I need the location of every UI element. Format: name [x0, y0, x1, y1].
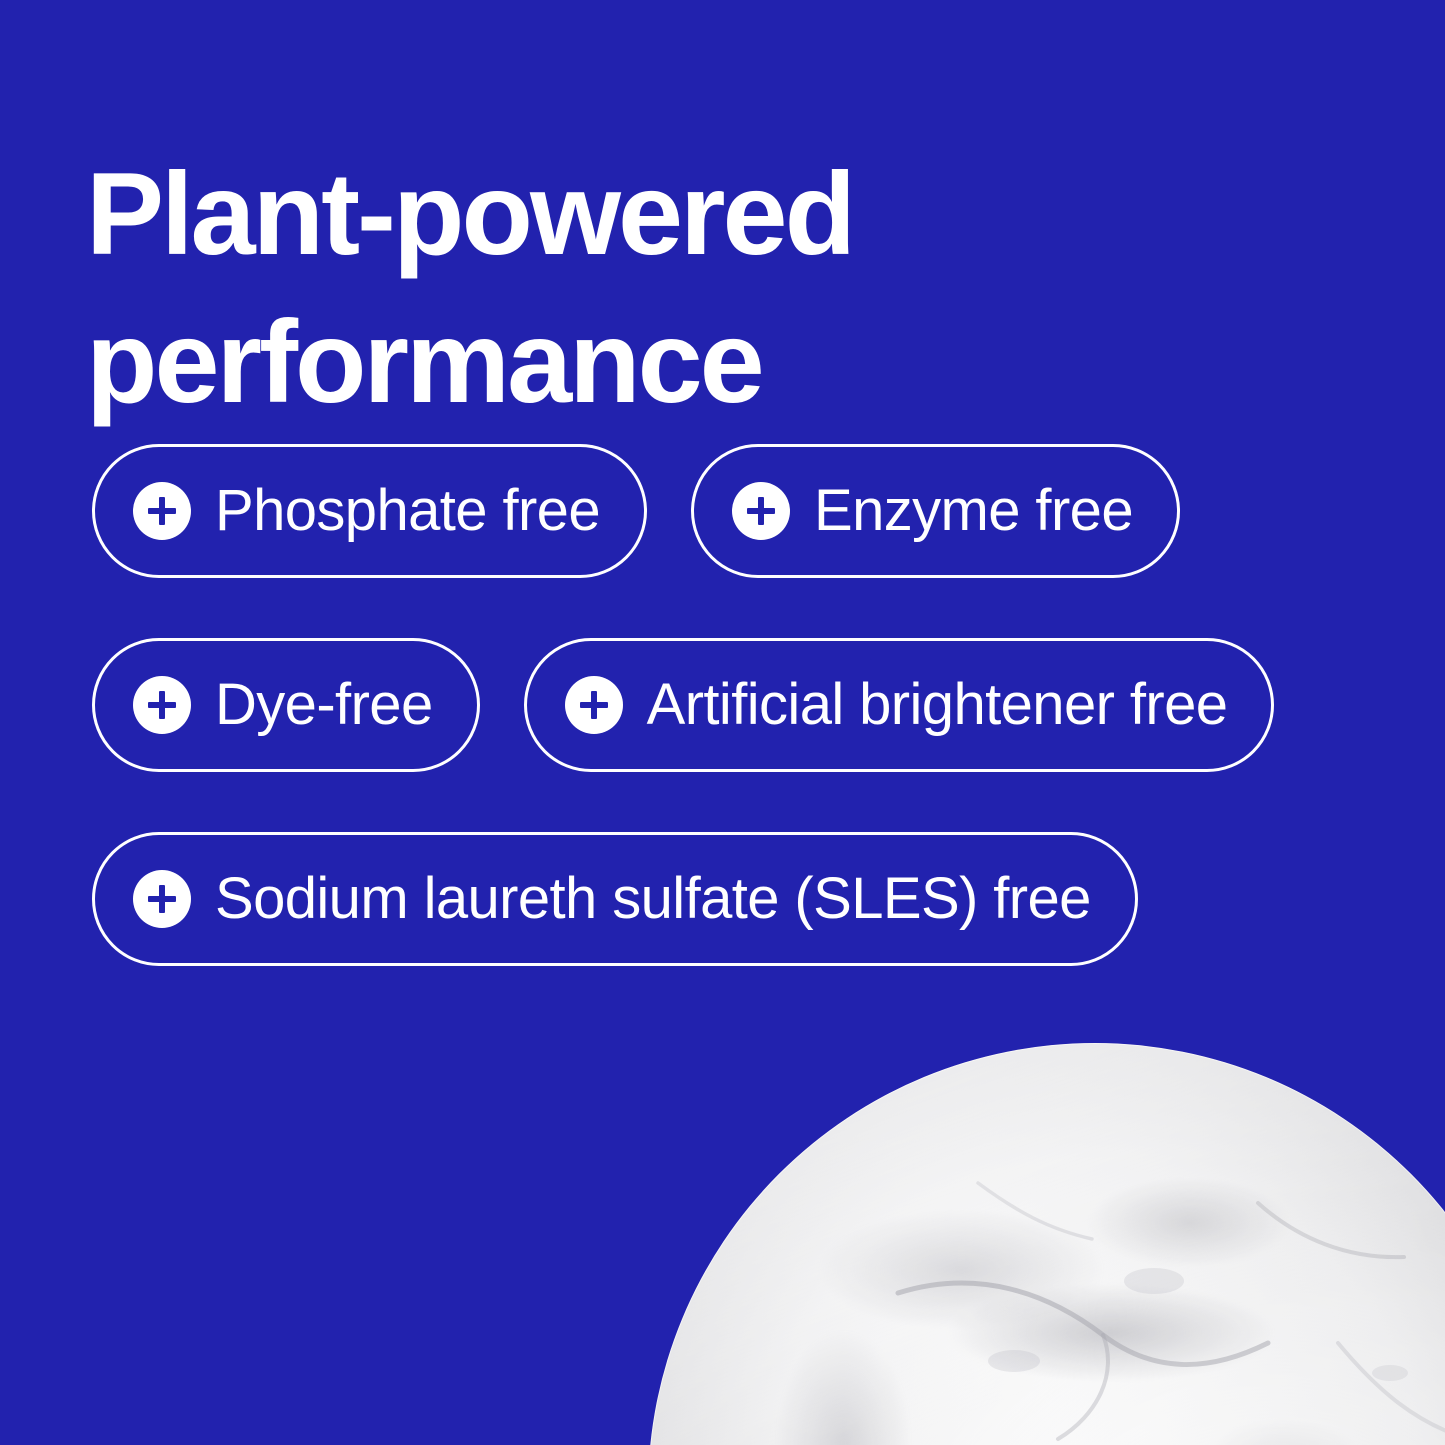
feature-badge-label: Sodium laureth sulfate (SLES) free [215, 868, 1091, 930]
plus-icon [133, 676, 191, 734]
powder-surface-texture [702, 1097, 1445, 1445]
feature-badge-row: Dye-free Artificial brightener free [92, 638, 1392, 772]
feature-badge-list: Phosphate free Enzyme free Dye-free Arti… [92, 444, 1392, 966]
powder-highlight [648, 1043, 1445, 1445]
plus-icon [133, 870, 191, 928]
feature-badge-dye-free[interactable]: Dye-free [92, 638, 480, 772]
feature-badge-row: Phosphate free Enzyme free [92, 444, 1392, 578]
feature-badge-label: Artificial brightener free [647, 674, 1228, 736]
tub-rim [648, 1043, 1445, 1445]
promo-graphic: Plant-powered performance Phosphate free… [0, 0, 1445, 1445]
laundry-powder-tub-photo [648, 1043, 1445, 1445]
feature-badge-phosphate-free[interactable]: Phosphate free [92, 444, 647, 578]
plus-icon [732, 482, 790, 540]
feature-badge-label: Dye-free [215, 674, 433, 736]
plus-icon [133, 482, 191, 540]
feature-badge-row: Sodium laureth sulfate (SLES) free [92, 832, 1392, 966]
feature-badge-enzyme-free[interactable]: Enzyme free [691, 444, 1180, 578]
feature-badge-label: Phosphate free [215, 480, 600, 542]
feature-badge-sles-free[interactable]: Sodium laureth sulfate (SLES) free [92, 832, 1138, 966]
feature-badge-artificial-brightener-free[interactable]: Artificial brightener free [524, 638, 1275, 772]
feature-badge-label: Enzyme free [814, 480, 1133, 542]
plus-icon [565, 676, 623, 734]
page-title: Plant-powered performance [86, 140, 1086, 436]
powder-crack-lines [648, 1043, 1445, 1445]
